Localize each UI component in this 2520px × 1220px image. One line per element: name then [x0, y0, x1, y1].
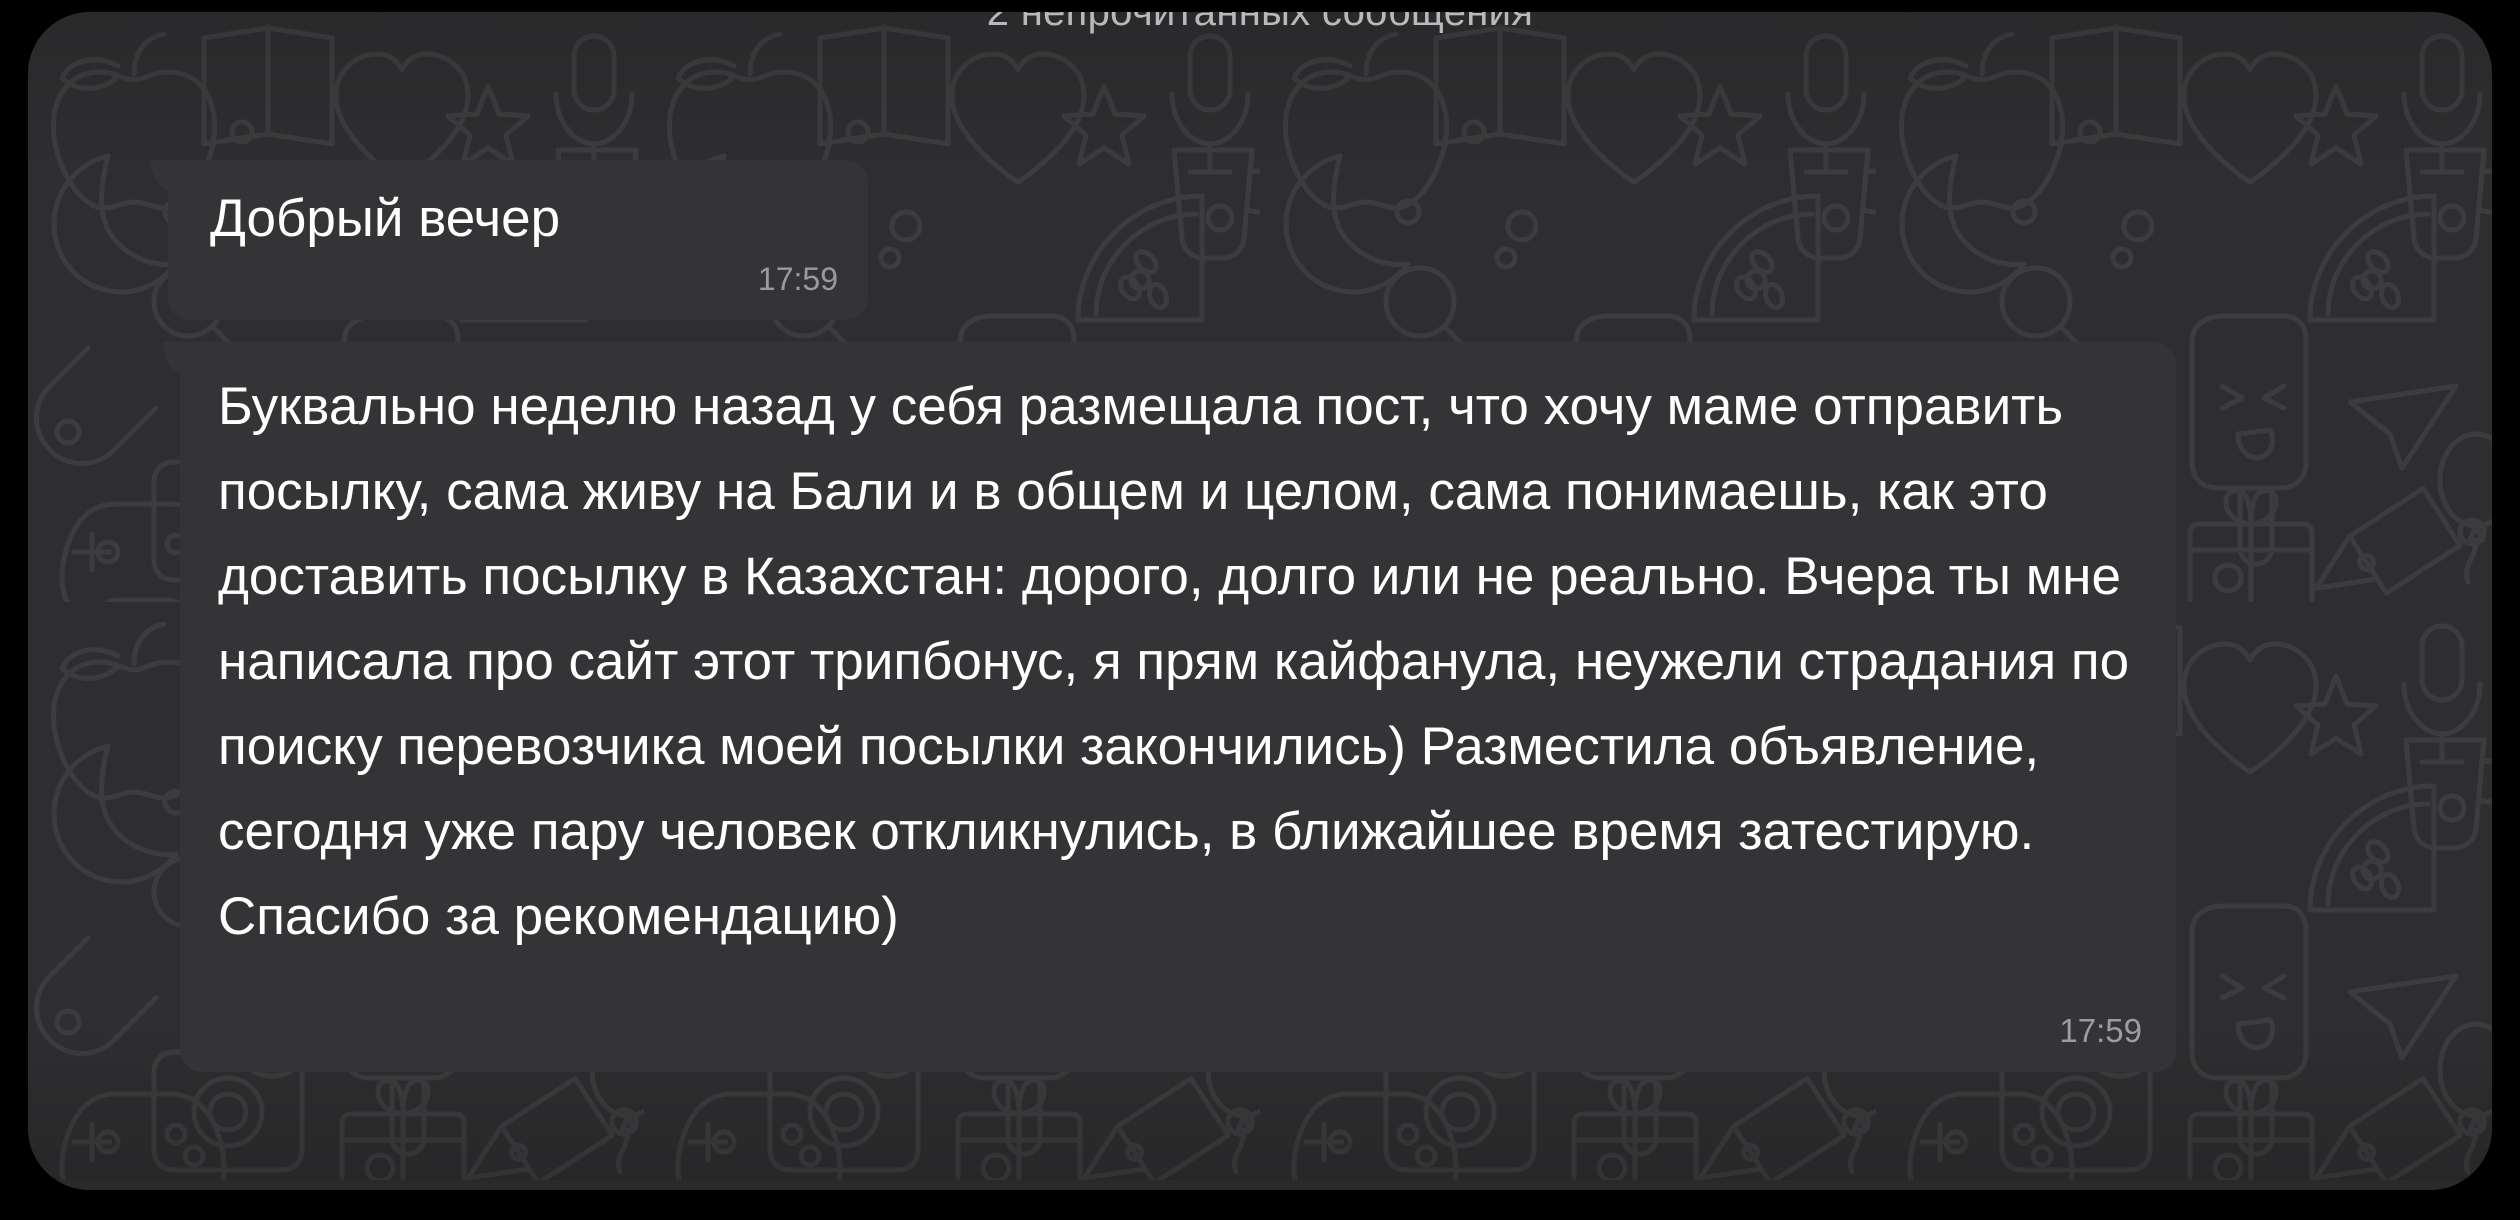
message-text: Буквально неделю назад у себя размещала …	[218, 364, 2130, 959]
message-bubble-incoming[interactable]: Буквально неделю назад у себя размещала …	[180, 342, 2176, 1072]
message-bubble-incoming[interactable]: Добрый вечер 17:59	[168, 160, 868, 320]
bubble-tail-icon	[149, 160, 171, 194]
bubble-tail-icon	[161, 342, 183, 376]
composer-strip	[28, 1180, 2492, 1190]
message-list[interactable]: Добрый вечер 17:59 Буквально неделю наза…	[28, 12, 2492, 1190]
chat-screen: 2 непрочитанных сообщения Добрый вечер 1…	[28, 12, 2492, 1190]
message-timestamp: 17:59	[758, 261, 838, 298]
screenshot-frame: 2 непрочитанных сообщения Добрый вечер 1…	[0, 0, 2520, 1220]
message-timestamp: 17:59	[2059, 1012, 2142, 1050]
message-text: Добрый вечер	[210, 188, 560, 250]
